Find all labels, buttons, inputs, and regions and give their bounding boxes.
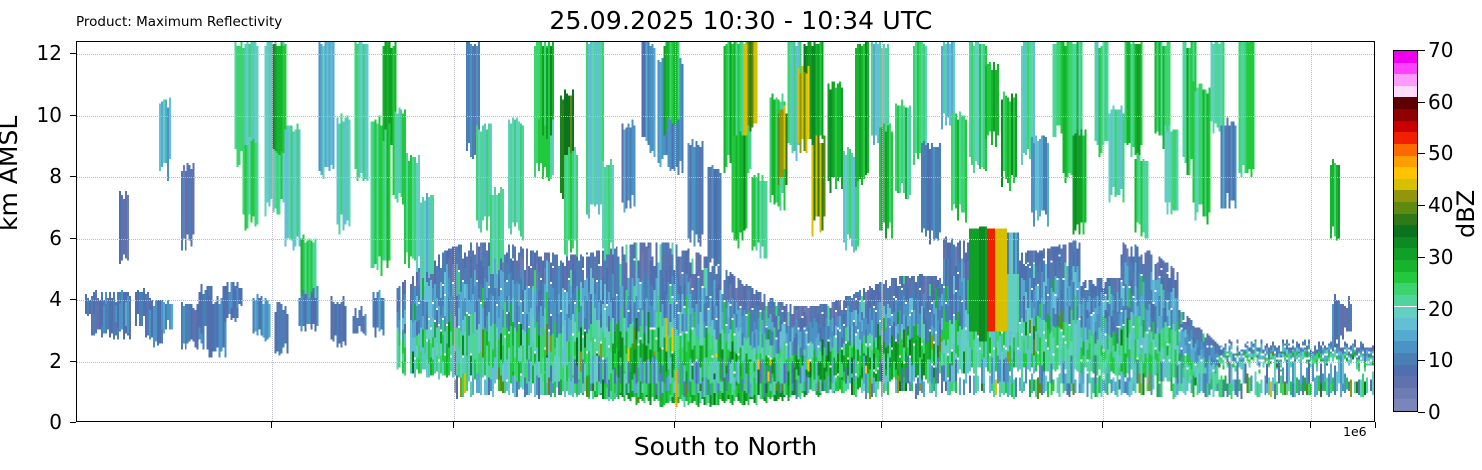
y-tick-mark (70, 115, 76, 116)
colorbar-band (1394, 248, 1417, 260)
x-tick-mark (674, 422, 675, 428)
colorbar-band (1394, 307, 1417, 319)
colorbar-band (1394, 225, 1417, 237)
colorbar-tick-label: 30 (1428, 245, 1453, 269)
y-tick-mark (70, 176, 76, 177)
y-axis-label: km AMSL (0, 116, 23, 231)
x-tick-mark (1310, 422, 1311, 428)
x-tick-mark (271, 422, 272, 428)
y-tick-label: 12 (10, 41, 62, 65)
y-tick-label: 2 (10, 349, 62, 373)
colorbar-band (1394, 376, 1417, 388)
colorbar-band (1394, 86, 1417, 98)
reflectivity-canvas (77, 42, 1374, 421)
product-annotation: Product: Maximum Reflectivity (76, 14, 282, 30)
colorbar-tick-mark (1418, 102, 1425, 103)
y-tick-mark (70, 53, 76, 54)
colorbar-tick-mark (1418, 309, 1425, 310)
colorbar-band (1394, 144, 1417, 156)
y-tick-mark (70, 361, 76, 362)
colorbar-tick-label: 60 (1428, 90, 1453, 114)
colorbar-band (1394, 318, 1417, 330)
colorbar-band (1394, 121, 1417, 133)
y-tick-mark (70, 299, 76, 300)
colorbar-band (1394, 167, 1417, 179)
x-tick-mark (1375, 422, 1376, 428)
colorbar-band (1394, 388, 1417, 400)
colorbar-band (1394, 237, 1417, 249)
colorbar-tick-mark (1418, 360, 1425, 361)
heatmap-layer (77, 42, 1374, 421)
colorbar-tick-label: 70 (1428, 38, 1453, 62)
colorbar-band (1394, 260, 1417, 272)
colorbar-band (1394, 51, 1417, 63)
colorbar-band (1394, 365, 1417, 377)
x-tick-mark (1102, 422, 1103, 428)
colorbar-tick-label: 50 (1428, 141, 1453, 165)
colorbar-tick-label: 40 (1428, 193, 1453, 217)
colorbar-tick-mark (1418, 50, 1425, 51)
plot-area (76, 41, 1375, 422)
colorbar-tick-label: 10 (1428, 348, 1453, 372)
colorbar-title: dBZ (1452, 190, 1480, 238)
colorbar-band (1394, 74, 1417, 86)
y-tick-label: 4 (10, 287, 62, 311)
colorbar-band (1394, 63, 1417, 75)
x-axis-label: South to North (76, 432, 1375, 461)
colorbar-band (1394, 179, 1417, 191)
colorbar-band (1394, 295, 1417, 307)
colorbar-band (1394, 330, 1417, 342)
x-axis-offset-text: 1e6 (1343, 424, 1367, 439)
y-tick-mark (70, 238, 76, 239)
y-tick-mark (70, 422, 76, 423)
colorbar-band (1394, 272, 1417, 284)
colorbar-band (1394, 353, 1417, 365)
colorbar (1393, 50, 1418, 412)
colorbar-band (1394, 132, 1417, 144)
colorbar-tick-label: 0 (1428, 400, 1441, 424)
colorbar-band (1394, 399, 1417, 411)
colorbar-band (1394, 156, 1417, 168)
x-tick-mark (881, 422, 882, 428)
colorbar-tick-mark (1418, 205, 1425, 206)
colorbar-band (1394, 283, 1417, 295)
x-tick-mark (453, 422, 454, 428)
colorbar-band (1394, 190, 1417, 202)
y-tick-label: 0 (10, 410, 62, 434)
colorbar-band (1394, 97, 1417, 109)
colorbar-band (1394, 214, 1417, 226)
colorbar-band (1394, 341, 1417, 353)
colorbar-tick-mark (1418, 153, 1425, 154)
colorbar-tick-mark (1418, 257, 1425, 258)
colorbar-band (1394, 202, 1417, 214)
radar-cross-section-figure: 25.09.2025 10:30 - 10:34 UTC Product: Ma… (0, 0, 1482, 470)
colorbar-tick-label: 20 (1428, 297, 1453, 321)
colorbar-band (1394, 109, 1417, 121)
colorbar-tick-mark (1418, 412, 1425, 413)
